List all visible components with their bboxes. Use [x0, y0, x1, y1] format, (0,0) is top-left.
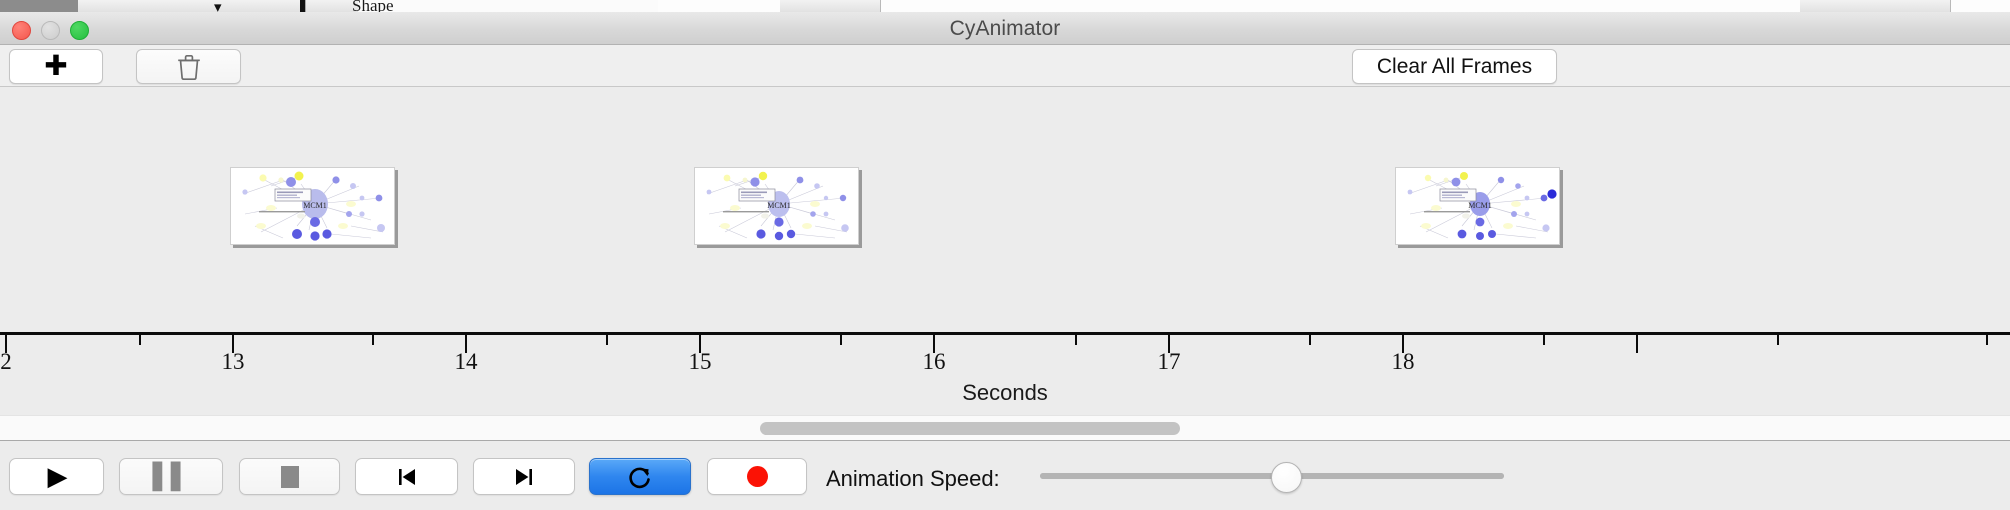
axis-tick-minor [1777, 335, 1779, 345]
record-button[interactable] [707, 458, 807, 495]
axis-tick-minor [1543, 335, 1545, 345]
loop-icon [627, 464, 653, 490]
frame-thumbnail[interactable]: MCM1 [1395, 167, 1560, 245]
trash-icon [177, 54, 201, 80]
animation-speed-label: Animation Speed: [826, 466, 1000, 492]
record-icon [747, 466, 768, 487]
playback-controls: ▶ ▌▌ Ani [0, 441, 2010, 510]
background-window-strip: ▾ ▌ Shape [0, 0, 2010, 12]
network-thumbnail-image: MCM1 [694, 167, 859, 245]
background-window-segment [78, 0, 189, 12]
clear-all-frames-label: Clear All Frames [1377, 55, 1532, 79]
step-back-button[interactable] [355, 458, 458, 495]
axis-tick-minor [1986, 335, 1988, 345]
axis-tick-label: 18 [1392, 349, 1415, 375]
background-window-segment [1800, 0, 1951, 12]
toolbar: ✚ Clear All Frames [0, 45, 2010, 87]
svg-text:MCM1: MCM1 [767, 201, 791, 210]
window-title: CyAnimator [0, 12, 2010, 45]
axis-tick-minor [606, 335, 608, 345]
background-window-segment [780, 0, 881, 12]
thumbnail-shadow [1560, 170, 1563, 248]
thumbnail-shadow [1398, 245, 1563, 248]
title-bar: CyAnimator [0, 12, 2010, 45]
cyanimator-window: ▾ ▌ Shape CyAnimator ✚ Clear All Frames [0, 0, 2010, 510]
plus-icon: ✚ [44, 52, 67, 80]
frame-thumbnail[interactable]: MCM1 [230, 167, 395, 245]
background-chevron-icon: ▾ [214, 0, 222, 12]
animation-speed-slider-knob[interactable] [1271, 462, 1302, 493]
axis-tick-label: 2 [0, 349, 12, 375]
axis-tick-label: 14 [455, 349, 478, 375]
thumbnail-shadow [859, 170, 862, 248]
background-window-segment [358, 0, 658, 12]
network-thumbnail-image: MCM1 [1395, 167, 1560, 245]
axis-tick-minor [372, 335, 374, 345]
step-forward-button[interactable] [473, 458, 575, 495]
axis-tick-label: 17 [1158, 349, 1181, 375]
delete-frame-button[interactable] [136, 49, 241, 84]
add-frame-button[interactable]: ✚ [9, 49, 103, 84]
pause-button[interactable]: ▌▌ [119, 458, 223, 495]
axis-tick-label: 15 [689, 349, 712, 375]
background-window-dark-segment [0, 0, 78, 12]
background-bar-icon: ▌ [300, 0, 311, 12]
axis-tick-label: 16 [923, 349, 946, 375]
thumbnail-shadow [697, 245, 862, 248]
stop-icon [281, 466, 299, 488]
skip-back-icon [396, 466, 418, 488]
scrollbar-thumb[interactable] [760, 422, 1180, 435]
frame-thumbnail[interactable]: MCM1 [694, 167, 859, 245]
clear-all-frames-button[interactable]: Clear All Frames [1352, 49, 1557, 84]
timeline-axis [0, 332, 2010, 335]
play-button[interactable]: ▶ [9, 458, 104, 495]
axis-tick-minor [840, 335, 842, 345]
play-icon: ▶ [48, 464, 68, 490]
thumbnail-shadow [395, 170, 398, 248]
axis-tick-minor [1309, 335, 1311, 345]
loop-button[interactable] [589, 458, 691, 495]
thumbnail-shadow [233, 245, 398, 248]
pause-icon: ▌▌ [153, 464, 189, 489]
svg-text:MCM1: MCM1 [1468, 201, 1492, 210]
axis-title: Seconds [0, 380, 2010, 406]
timeline-scrollbar[interactable] [0, 415, 2010, 441]
axis-tick-minor [1075, 335, 1077, 345]
network-thumbnail-image: MCM1 [230, 167, 395, 245]
axis-tick-major [1636, 335, 1638, 353]
background-window-segment [270, 0, 359, 12]
axis-tick-label: 13 [222, 349, 245, 375]
stop-button[interactable] [239, 458, 340, 495]
axis-tick-minor [139, 335, 141, 345]
svg-text:MCM1: MCM1 [303, 201, 327, 210]
timeline-panel[interactable]: MCM1 [0, 87, 2010, 415]
skip-forward-icon [513, 466, 535, 488]
background-window-label: Shape [352, 0, 394, 12]
background-window-segment [188, 0, 271, 12]
